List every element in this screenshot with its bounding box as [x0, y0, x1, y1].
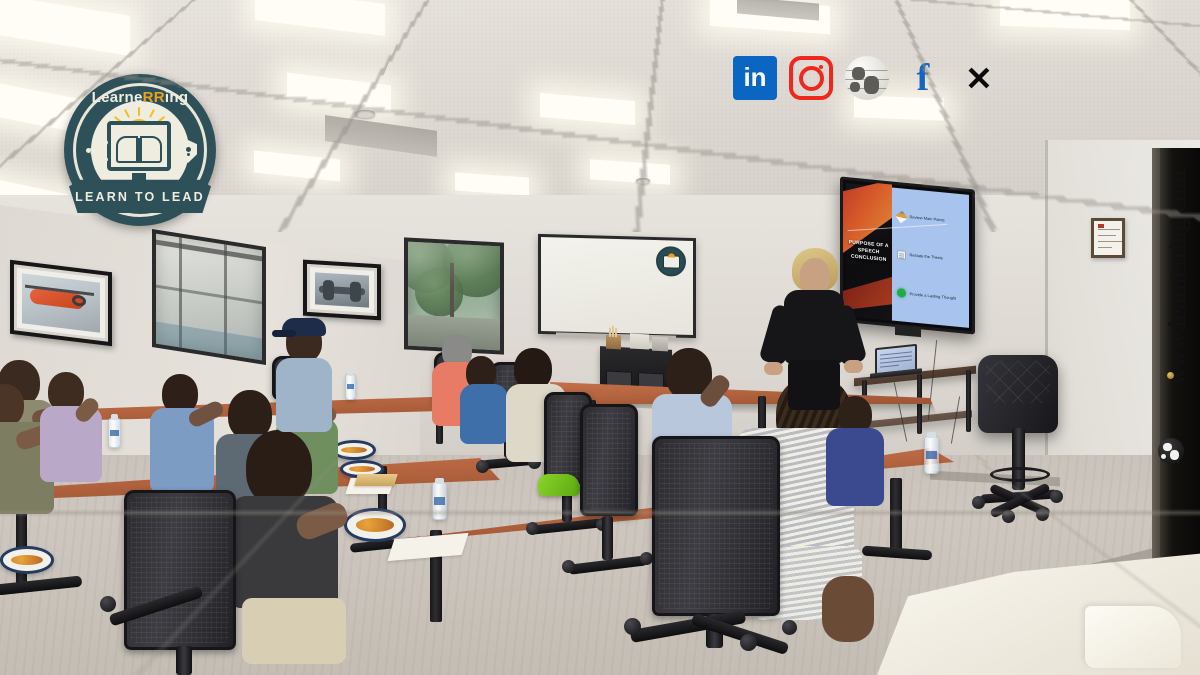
bottle-cap: [927, 432, 936, 438]
chair-caster: [740, 634, 757, 651]
presenter-hand-right: [844, 360, 863, 373]
chair-caster: [476, 460, 489, 473]
globe-landmass: [1163, 443, 1172, 451]
whiteboard: [538, 234, 696, 338]
interior-window: [152, 229, 266, 365]
stool-caster: [972, 496, 985, 509]
certificate-line: [1098, 235, 1116, 236]
side-desk-leg: [966, 370, 971, 432]
student-torso: [826, 428, 884, 506]
water-bottle: [924, 436, 939, 474]
slide-bullet-item: Provide a Lasting Thought: [897, 288, 965, 303]
logo-tagline: LEARN TO LEAD: [75, 190, 205, 204]
cap-brim: [272, 330, 296, 337]
framed-photo-osprey: [303, 260, 381, 321]
office-chair[interactable]: [580, 404, 638, 516]
laptop-screen-line: [880, 365, 899, 368]
linkedin-icon[interactable]: in: [733, 56, 777, 100]
chair-caster: [562, 560, 575, 573]
logo-tagline-banner: LEARN TO LEAD: [69, 176, 211, 213]
globe-landmass: [850, 82, 860, 93]
globe-landmass: [1170, 450, 1179, 459]
ceiling-light-panel: [1000, 0, 1130, 30]
chair-post: [176, 646, 192, 675]
table-leg: [890, 478, 902, 554]
stool-caster: [1050, 490, 1063, 503]
student: [146, 374, 220, 492]
office-chair-right[interactable]: [652, 436, 780, 616]
instagram-icon[interactable]: [789, 56, 833, 100]
chair-caster: [526, 522, 539, 535]
network-node-icon: [86, 140, 108, 162]
certificate-line: [1098, 229, 1120, 230]
globe-icon[interactable]: [845, 56, 889, 100]
classroom-photo: PURPOSE OF A SPEECH CONCLUSION Review Ma…: [0, 0, 1200, 675]
slide-bullet-text: Provide a Lasting Thought: [910, 292, 957, 301]
chair-post: [602, 516, 613, 560]
whiteboard-learnerring-logo: [656, 246, 686, 277]
social-icons-bar: in f ✕: [733, 56, 1001, 100]
tv-wall-mount: [895, 325, 921, 337]
snack-box: [354, 474, 397, 486]
stool-footrest-ring: [990, 467, 1050, 482]
logo-brand-suffix: ing: [165, 89, 188, 106]
stool-quilted-pattern: [986, 361, 1050, 403]
certificate-line: [1098, 247, 1112, 248]
book-page-right: [140, 136, 162, 163]
node-dot: [103, 157, 108, 162]
pencil: [615, 328, 617, 337]
logo-brand-accent: RR: [143, 89, 165, 106]
stool-caster: [1036, 508, 1049, 521]
presenter-head: [800, 258, 830, 294]
student-foreground-left: [226, 430, 346, 675]
wall-mounted-tv: PURPOSE OF A SPEECH CONCLUSION Review Ma…: [840, 177, 975, 335]
photo-helicopter-image: [22, 273, 100, 333]
stool-caster: [1002, 510, 1015, 523]
bottle-cap: [348, 370, 353, 376]
snack-food: [349, 466, 375, 472]
logo-brand-prefix: Learne: [92, 89, 143, 106]
globe-icon: [1158, 438, 1184, 464]
tissue-box: [630, 334, 649, 350]
slide-bullet-item: Restate the Thesis: [897, 250, 965, 265]
student-head: [0, 384, 24, 426]
snack-plate: [0, 546, 54, 574]
presenter: [770, 250, 856, 410]
water-bottle: [432, 482, 447, 520]
presenter-hand-left: [764, 362, 783, 375]
chair-caster: [624, 618, 641, 635]
photo-osprey-image: [315, 272, 369, 307]
x-twitter-icon[interactable]: ✕: [957, 56, 1001, 100]
website-url[interactable]: www.learnerring.com: [1165, 170, 1192, 385]
cloth-fold: [1085, 606, 1181, 668]
chair-mesh: [131, 497, 229, 643]
laptop-screen-line: [880, 359, 912, 364]
logo-brand-text: LearneRRing: [64, 89, 216, 106]
student: [460, 356, 512, 442]
snack-food: [356, 518, 394, 531]
globe-landmass: [1161, 454, 1167, 460]
smoke-detector: [355, 110, 375, 118]
student-adult-standing: [276, 322, 338, 432]
document-icon: [897, 250, 906, 260]
bottle-cap: [111, 414, 118, 420]
slide-bullet-text: Review Main Points: [910, 215, 945, 223]
node-dot: [103, 140, 108, 145]
chair-caster: [782, 620, 797, 635]
credenza-cubby: [606, 370, 632, 386]
presenter-legs: [788, 360, 840, 410]
globe-landmass: [852, 67, 865, 80]
green-sneakers: [538, 474, 580, 496]
student: [40, 372, 112, 482]
snack-food: [11, 555, 44, 566]
book-page-left: [116, 136, 138, 163]
chair-mesh: [659, 443, 773, 609]
pencil-cup: [606, 335, 621, 350]
framed-certificate: [1091, 218, 1125, 258]
chair-mesh: [587, 411, 631, 509]
framed-photo-helicopter: [10, 260, 112, 347]
student-torso: [460, 384, 508, 444]
globe-landmass: [864, 76, 879, 94]
slide-bullet-panel: Review Main Points Restate the Thesis Pr…: [892, 187, 970, 327]
adult-torso: [276, 358, 332, 432]
office-chair-foreground[interactable]: [124, 490, 236, 650]
snack-plate: [344, 508, 406, 542]
student: [826, 396, 890, 506]
student-leg: [822, 576, 874, 642]
chair-caster: [100, 596, 116, 612]
sun-ray: [138, 107, 140, 116]
smoke-detector: [636, 178, 650, 184]
side-desk-leg: [917, 374, 922, 434]
learnerring-logo-badge: LearneRRing LEARN TO LEAD: [64, 74, 216, 226]
slide-bullet-text: Restate the Thesis: [910, 253, 943, 261]
drafting-stool-seat[interactable]: [978, 355, 1058, 433]
green-dot-icon: [897, 288, 906, 298]
pencil-icon: [895, 210, 908, 222]
student-torso: [40, 406, 102, 482]
open-book-icon: [116, 136, 162, 163]
bottle-cap: [435, 478, 444, 484]
pencil: [612, 326, 614, 337]
student-head: [246, 430, 312, 506]
presentation-slide: PURPOSE OF A SPEECH CONCLUSION Review Ma…: [846, 183, 969, 328]
pencil: [609, 328, 611, 337]
student-shorts: [242, 598, 346, 664]
certificate-line: [1098, 241, 1122, 242]
facebook-icon[interactable]: f: [901, 56, 945, 100]
